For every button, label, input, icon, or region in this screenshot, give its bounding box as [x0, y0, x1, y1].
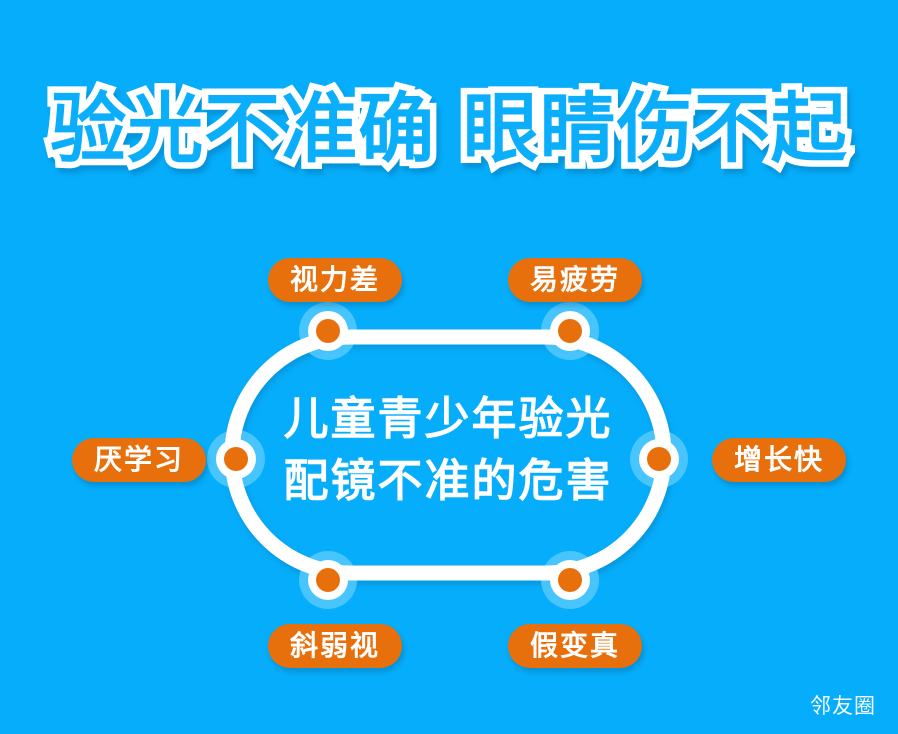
- poster-canvas: 验光不准确 眼睛伤不起: [0, 0, 898, 734]
- center-caption: 儿童青少年验光 配镜不准的危害: [225, 388, 671, 512]
- ring-diagram: [0, 0, 898, 734]
- label-pill-top-left[interactable]: 视力差: [268, 258, 402, 302]
- node-dot-bottom-right: [558, 568, 582, 592]
- center-caption-line-1: 儿童青少年验光: [225, 388, 671, 450]
- node-dot-top-right: [558, 319, 582, 343]
- label-pill-top-right[interactable]: 易疲劳: [508, 258, 642, 302]
- label-pill-bottom-right[interactable]: 假变真: [508, 624, 642, 668]
- node-dot-top-left: [316, 319, 340, 343]
- label-pill-left[interactable]: 厌学习: [72, 438, 206, 482]
- watermark: 邻友圈: [810, 692, 876, 720]
- label-pill-right[interactable]: 增长快: [712, 438, 846, 482]
- label-pill-bottom-left[interactable]: 斜弱视: [268, 624, 402, 668]
- node-dot-bottom-left: [316, 568, 340, 592]
- center-caption-line-2: 配镜不准的危害: [225, 450, 671, 512]
